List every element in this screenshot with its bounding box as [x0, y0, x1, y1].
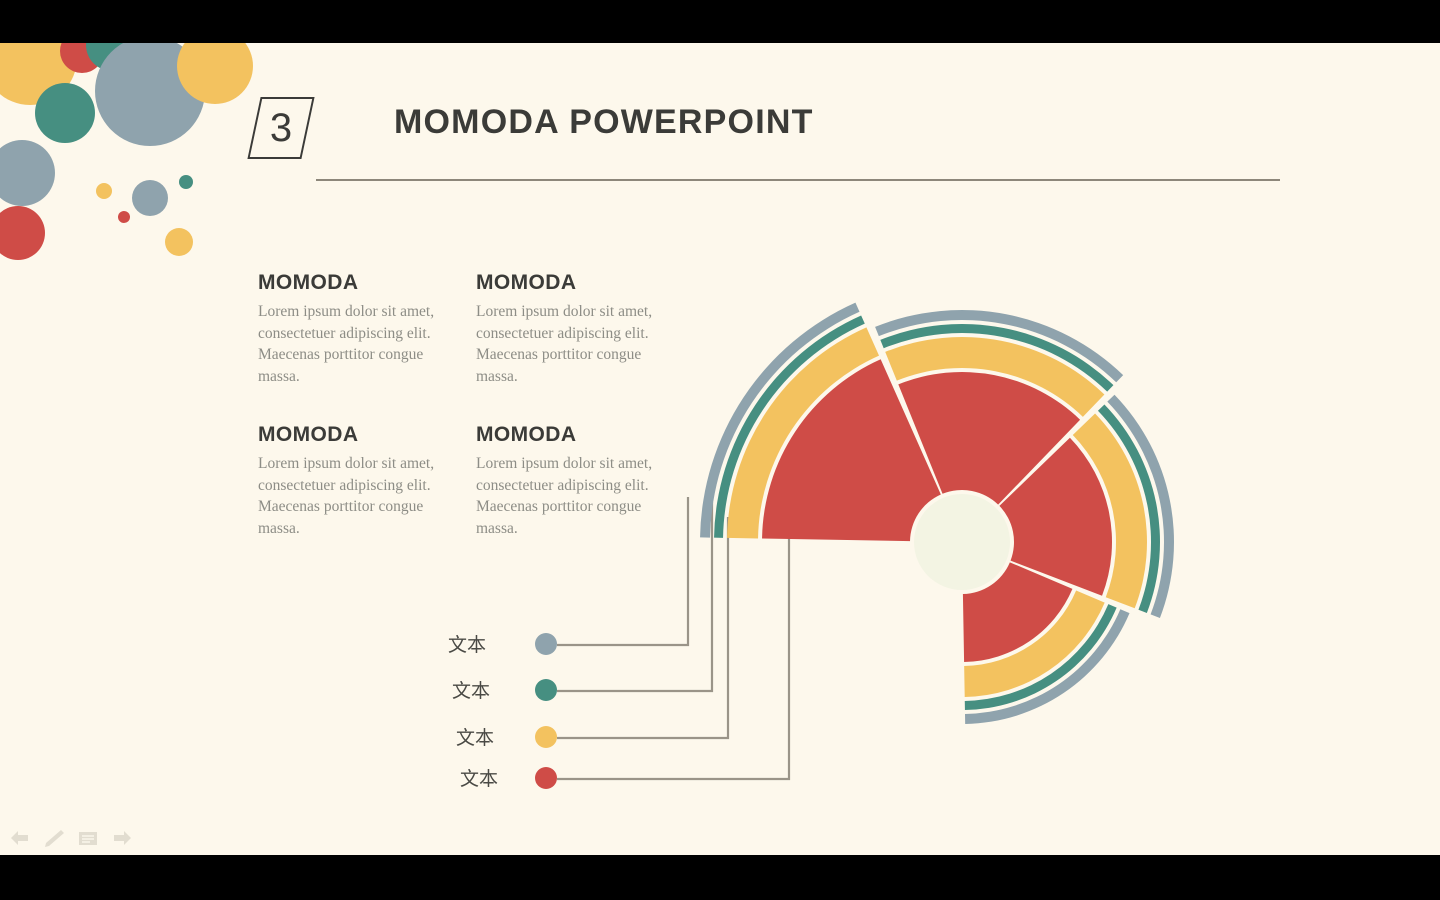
pen-icon[interactable]: [42, 828, 66, 848]
back-arrow-icon[interactable]: [8, 828, 32, 848]
forward-arrow-icon[interactable]: [110, 828, 134, 848]
chart-center-hub: [914, 494, 1010, 590]
slide-stage: 3 MOMODA POWERPOINT MOMODA Lorem ipsum d…: [0, 0, 1440, 900]
slide-canvas: 3 MOMODA POWERPOINT MOMODA Lorem ipsum d…: [0, 43, 1440, 855]
radial-sunburst-chart: [0, 43, 1440, 855]
list-icon[interactable]: [76, 828, 100, 848]
slide-toolbar[interactable]: [0, 823, 200, 855]
